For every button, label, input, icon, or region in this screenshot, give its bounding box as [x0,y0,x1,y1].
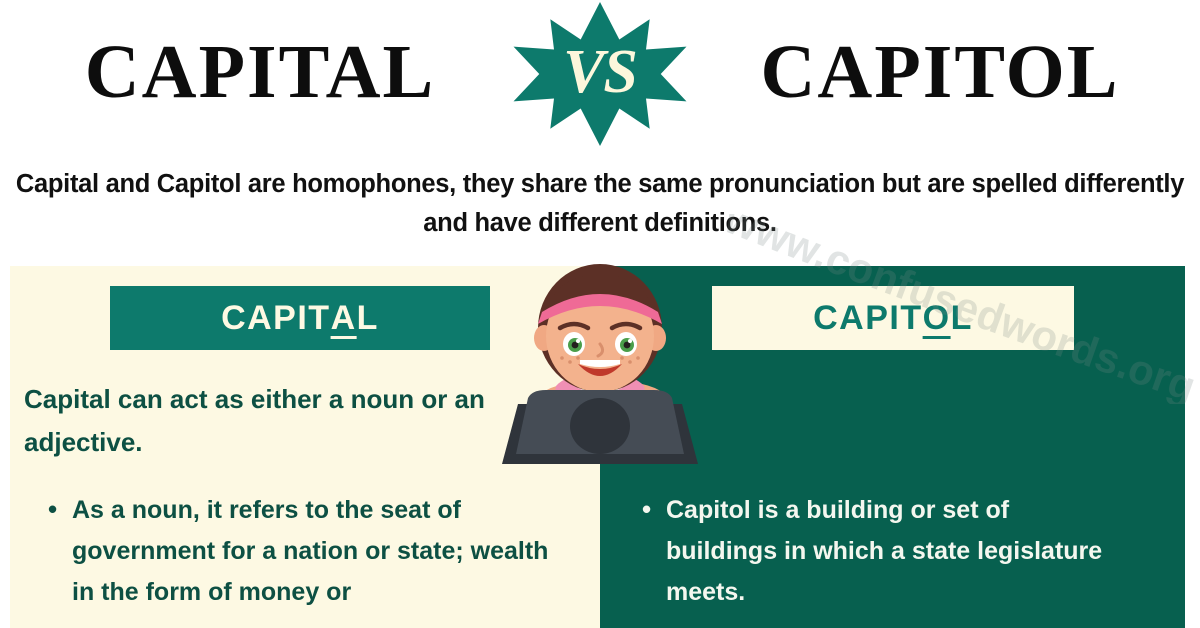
header-banner: CAPITAL VS CAPITOL [0,0,1200,148]
freckle [620,356,624,360]
bullet-list-capitol: Capitol is a building or set of building… [636,490,1106,613]
heading-chip-capitol: CAPITOL [712,286,1074,350]
subtitle-text: Capital and Capitol are homophones, they… [14,165,1186,243]
lead-paragraph-capital: Capital can act as either a noun or an a… [24,378,514,464]
versus-label: VS [508,2,692,146]
chip-text-prefix-right: CAPIT [813,299,923,338]
chip-text-underlined-right: O [923,299,951,338]
versus-burst: VS [508,2,692,146]
title-word-capitol: CAPITOL [680,22,1200,122]
freckle [568,360,572,364]
eye-glint-right-shape [628,339,632,343]
chip-text-suffix-right: L [951,299,973,338]
laptop-logo-shape [570,398,630,454]
eye-glint-left-shape [576,339,580,343]
freckle [636,356,640,360]
freckle [628,360,632,364]
chip-text-prefix-left: CAPIT [221,299,331,338]
freckle [560,356,564,360]
bullet-list-capital: As a noun, it refers to the seat of gove… [42,490,552,613]
freckle [576,356,580,360]
list-item: As a noun, it refers to the seat of gove… [42,490,552,613]
list-item: Capitol is a building or set of building… [636,490,1106,613]
chip-text-underlined-left: A [331,299,357,338]
title-word-capital: CAPITAL [0,22,520,122]
chip-text-suffix-left: L [357,299,379,338]
girl-with-laptop-illustration [492,258,708,470]
heading-chip-capital: CAPITAL [110,286,490,350]
